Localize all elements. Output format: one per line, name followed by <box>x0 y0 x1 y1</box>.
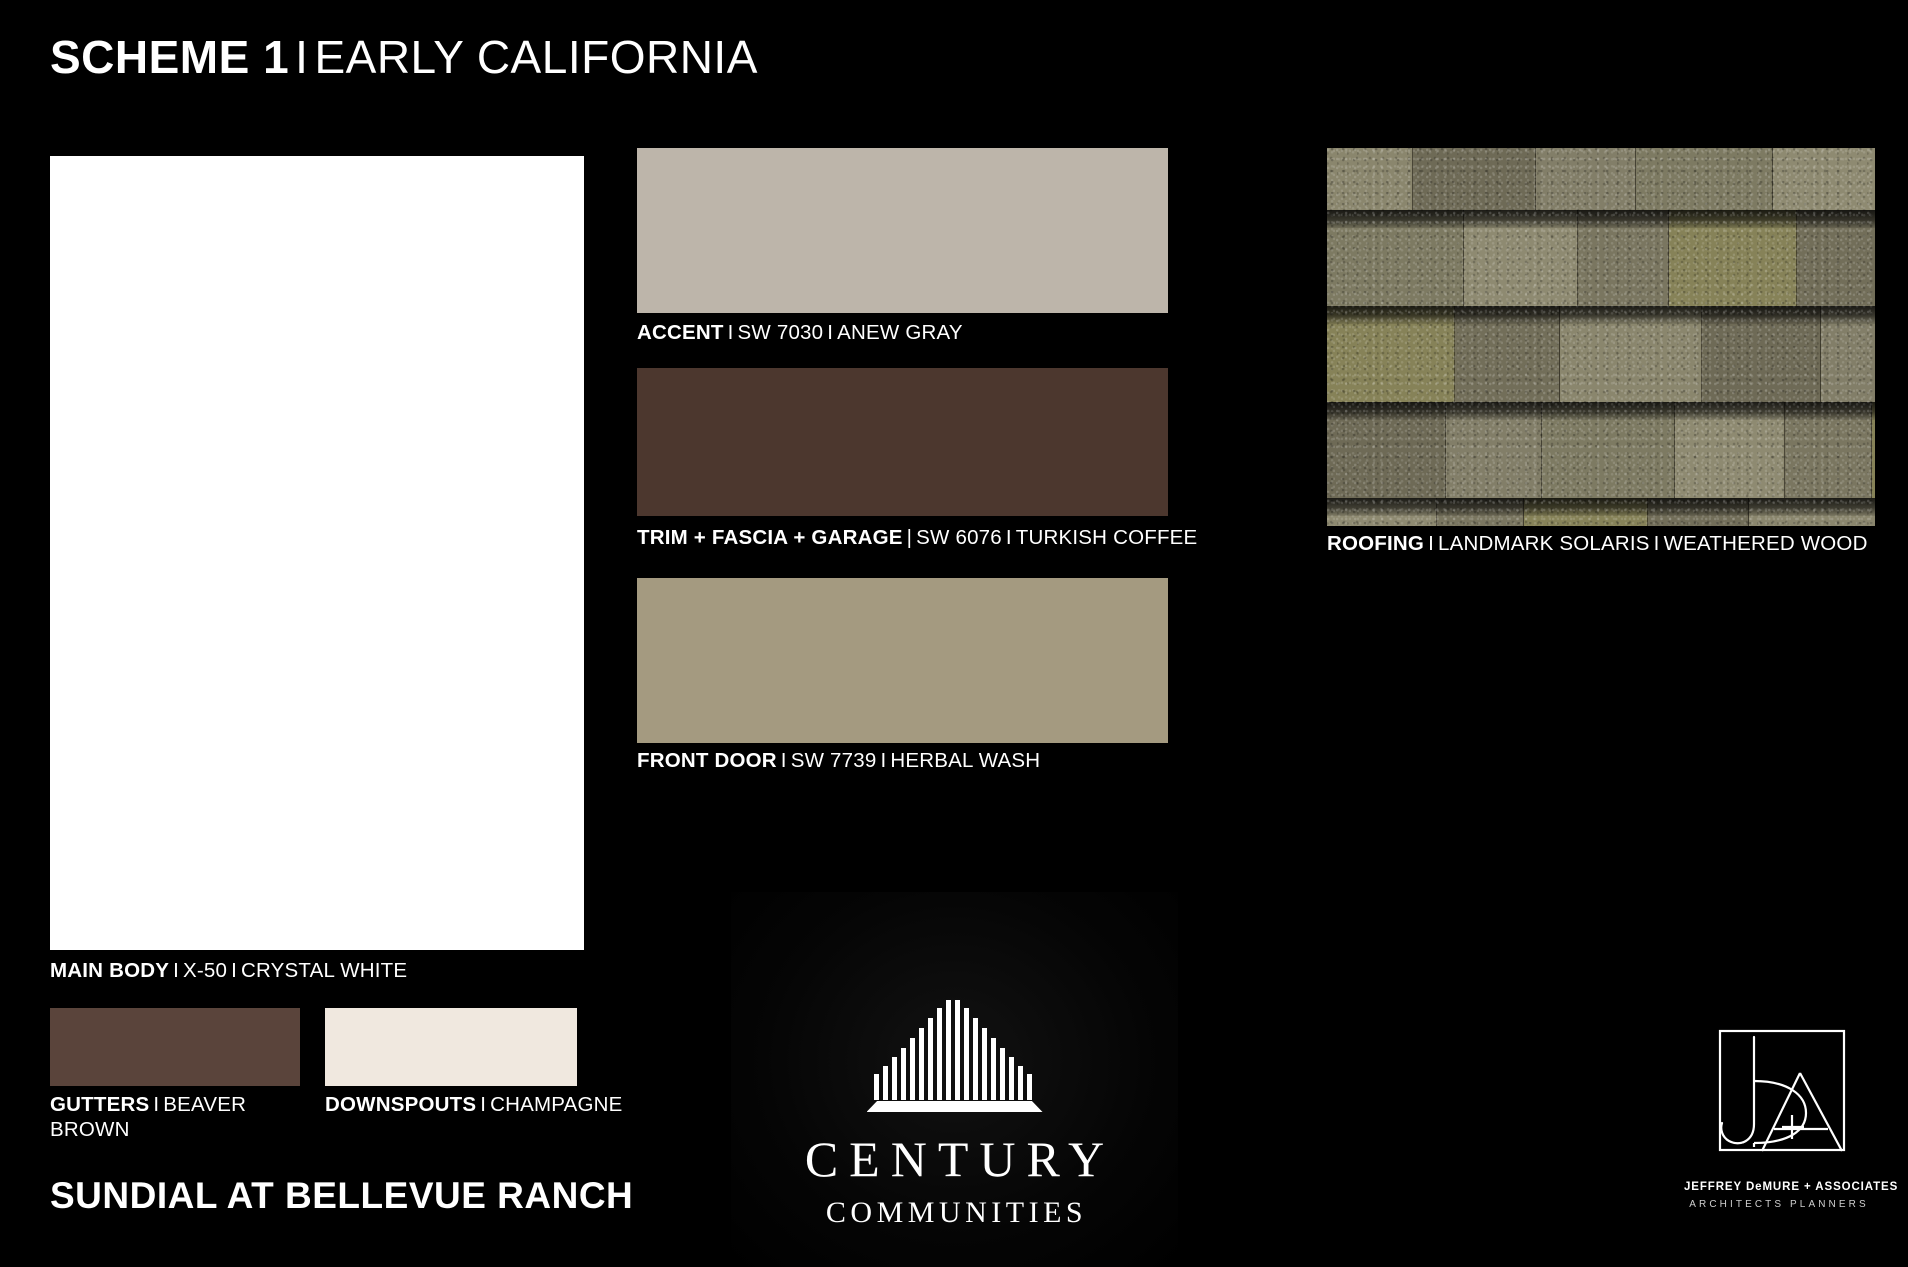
swatch-label-main-body: MAIN BODYIX-50ICRYSTAL WHITE <box>50 958 407 983</box>
jda-disciplines: ARCHITECTS PLANNERS <box>1684 1199 1874 1210</box>
swatch-label-door-sep: I <box>777 749 791 772</box>
swatch-label-main-body-key: MAIN BODY <box>50 959 169 982</box>
cupola-bar <box>1027 1074 1032 1100</box>
cupola-bar <box>901 1048 906 1100</box>
century-subtitle: COMMUNITIES <box>826 1198 1087 1228</box>
swatch-label-roofing-color: WEATHERED WOOD <box>1664 532 1868 555</box>
swatch-label-accent-code: SW 7030 <box>738 321 824 344</box>
swatch-label-roofing-key: ROOFING <box>1327 532 1424 555</box>
cupola-bar <box>955 1000 960 1100</box>
swatch-label-roofing-sep2: I <box>1650 532 1664 555</box>
swatch-label-main-body-sep2: I <box>227 959 241 982</box>
cupola-bar <box>937 1008 942 1100</box>
jda-firm-name: JEFFREY DeMURE + ASSOCIATES <box>1684 1181 1874 1193</box>
swatch-label-downspouts: DOWNSPOUTSICHAMPAGNE <box>325 1092 623 1117</box>
swatch-gutters[interactable] <box>50 1008 300 1086</box>
swatch-label-gutters-sep: I <box>149 1093 163 1116</box>
swatch-main-body[interactable] <box>50 156 584 950</box>
jeffrey-demure-associates-logo: JEFFREY DeMURE + ASSOCIATES ARCHITECTS P… <box>1684 1029 1874 1227</box>
page-title: SCHEME 1IEARLY CALIFORNIA <box>50 32 758 83</box>
cupola-bar <box>973 1018 978 1100</box>
page-title-separator: I <box>289 31 314 83</box>
cupola-bar <box>892 1057 897 1100</box>
swatch-label-trim-color: TURKISH COFFEE <box>1016 526 1198 549</box>
swatch-label-accent: ACCENTISW 7030IANEW GRAY <box>637 320 963 345</box>
swatch-label-door-code: SW 7739 <box>791 749 877 772</box>
swatch-label-door-sep2: I <box>876 749 890 772</box>
swatch-label-door-key: FRONT DOOR <box>637 749 777 772</box>
project-name: SUNDIAL AT BELLEVUE RANCH <box>50 1175 633 1217</box>
swatch-label-main-body-color: CRYSTAL WHITE <box>241 959 407 982</box>
swatch-downspouts[interactable] <box>325 1008 577 1086</box>
swatch-label-gutters-key: GUTTERS <box>50 1093 149 1116</box>
cupola-base <box>867 1101 1043 1112</box>
swatch-label-downspouts-color: CHAMPAGNE <box>490 1093 622 1116</box>
shingle-granule-texture <box>1327 148 1875 526</box>
cupola-bar <box>964 1008 969 1100</box>
swatch-roofing[interactable] <box>1327 148 1875 526</box>
swatch-label-gutters: GUTTERSIBEAVER BROWN <box>50 1092 285 1142</box>
swatch-label-main-body-sep: I <box>169 959 183 982</box>
century-wordmark: CENTURY <box>805 1134 1115 1184</box>
swatch-label-main-body-code: X-50 <box>183 959 227 982</box>
swatch-label-front-door: FRONT DOORISW 7739IHERBAL WASH <box>637 748 1040 773</box>
jda-monogram-icon <box>1696 1029 1846 1172</box>
cupola-bar <box>1018 1066 1023 1100</box>
cupola-bar <box>946 1000 951 1100</box>
cupola-bar <box>883 1066 888 1100</box>
swatch-label-door-color: HERBAL WASH <box>890 749 1040 772</box>
swatch-label-accent-sep: I <box>724 321 738 344</box>
century-communities-logo: CENTURY COMMUNITIES <box>731 892 1178 1267</box>
swatch-label-accent-color: ANEW GRAY <box>837 321 963 344</box>
page-title-scheme: SCHEME 1 <box>50 31 289 83</box>
swatch-label-roofing-code: LANDMARK SOLARIS <box>1438 532 1650 555</box>
cupola-bar <box>919 1028 924 1100</box>
swatch-label-downspouts-sep: I <box>476 1093 490 1116</box>
page-title-name: EARLY CALIFORNIA <box>314 31 757 83</box>
swatch-label-accent-key: ACCENT <box>637 321 724 344</box>
swatch-label-downspouts-key: DOWNSPOUTS <box>325 1093 476 1116</box>
swatch-label-trim-sep2: I <box>1002 526 1016 549</box>
cupola-bar <box>1009 1057 1014 1100</box>
swatch-label-trim-code: SW 6076 <box>916 526 1002 549</box>
swatch-label-accent-sep2: I <box>823 321 837 344</box>
swatch-label-roofing-sep: I <box>1424 532 1438 555</box>
cupola-bar <box>1000 1048 1005 1100</box>
cupola-bar <box>982 1028 987 1100</box>
swatch-accent[interactable] <box>637 148 1168 313</box>
cupola-bar <box>991 1038 996 1100</box>
swatch-label-trim-sep: | <box>903 526 917 549</box>
cupola-bar <box>874 1074 879 1100</box>
swatch-label-trim-key: TRIM + FASCIA + GARAGE <box>637 526 903 549</box>
swatch-label-trim-fascia-garage: TRIM + FASCIA + GARAGE|SW 6076ITURKISH C… <box>637 525 1197 550</box>
cupola-bar <box>928 1018 933 1100</box>
swatch-label-roofing: ROOFINGILANDMARK SOLARISIWEATHERED WOOD <box>1327 531 1868 556</box>
swatch-trim-fascia-garage[interactable] <box>637 368 1168 516</box>
swatch-front-door[interactable] <box>637 578 1168 743</box>
cupola-dome-icon <box>875 1000 1035 1112</box>
cupola-bar <box>910 1038 915 1100</box>
